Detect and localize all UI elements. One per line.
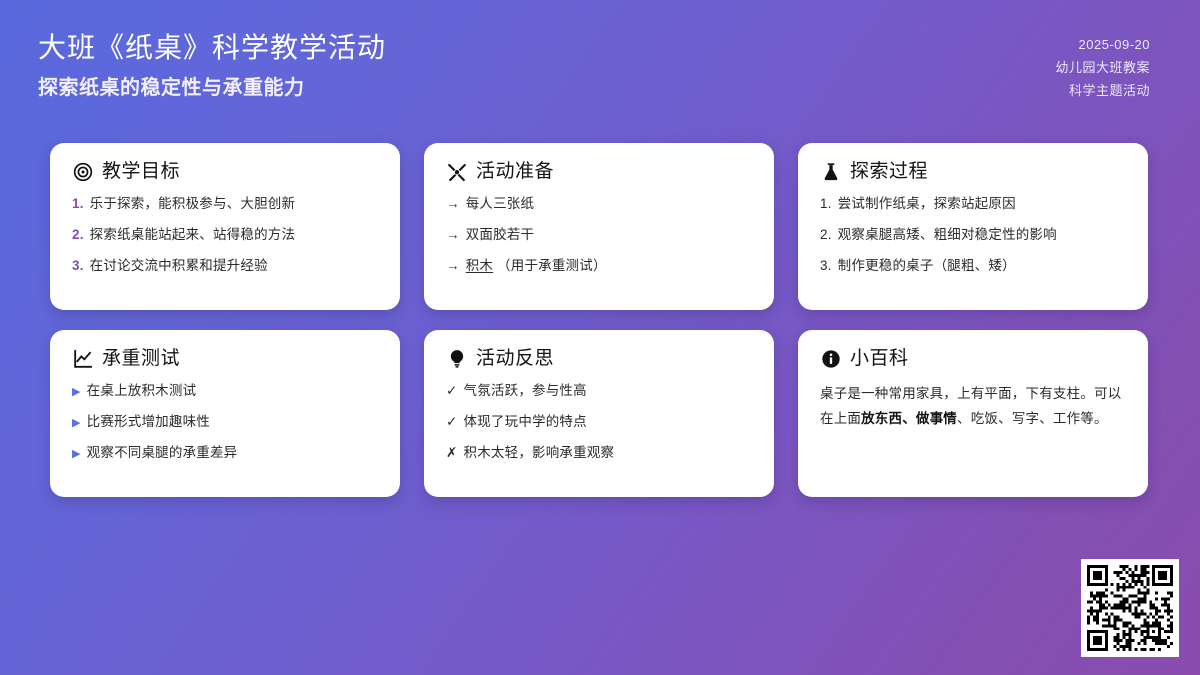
card-target: 教学目标1.乐于探索，能积极参与、大胆创新2.探索纸桌能站起来、站得稳的方法3.… xyxy=(50,143,400,310)
card-header: 教学目标 xyxy=(72,161,380,182)
list-item: →双面胶若干 xyxy=(446,226,754,244)
card-title: 活动反思 xyxy=(476,349,554,368)
list-item-text: 双面胶若干 xyxy=(466,226,754,244)
list-marker: 2. xyxy=(820,226,832,244)
page-title: 大班《纸桌》科学教学活动 xyxy=(38,30,386,65)
list-item: ▶在桌上放积木测试 xyxy=(72,382,380,400)
list-marker: 3. xyxy=(72,257,84,275)
list-item: ▶观察不同桌腿的承重差异 xyxy=(72,444,380,462)
card-grid: 教学目标1.乐于探索，能积极参与、大胆创新2.探索纸桌能站起来、站得稳的方法3.… xyxy=(50,143,1150,497)
paragraph-emphasis: 放东西、做事情 xyxy=(861,411,957,426)
list-item: 3.在讨论交流中积累和提升经验 xyxy=(72,257,380,275)
list-marker: 1. xyxy=(820,195,832,213)
card-header: 探索过程 xyxy=(820,161,1128,182)
card-flask: 探索过程1.尝试制作纸桌，探索站起原因2.观察桌腿高矮、粗细对稳定性的影响3.制… xyxy=(798,143,1148,310)
list-marker: ✓ xyxy=(446,382,458,400)
card-title: 教学目标 xyxy=(102,162,180,181)
slide-root: 大班《纸桌》科学教学活动 探索纸桌的稳定性与承重能力 2025-09-20 幼儿… xyxy=(0,0,1200,675)
list-item-text: 积木 （用于承重测试） xyxy=(466,257,754,275)
card-body: ✓气氛活跃，参与性高✓体现了玩中学的特点✗积木太轻，影响承重观察 xyxy=(446,382,754,463)
list-item: 1.乐于探索，能积极参与、大胆创新 xyxy=(72,195,380,213)
list-marker: ✗ xyxy=(446,444,458,462)
header-left: 大班《纸桌》科学教学活动 探索纸桌的稳定性与承重能力 xyxy=(38,28,386,101)
card-tools: 活动准备→每人三张纸→双面胶若干→积木 （用于承重测试） xyxy=(424,143,774,310)
list-item: ▶比赛形式增加趣味性 xyxy=(72,413,380,431)
card-info: 小百科桌子是一种常用家具，上有平面，下有支柱。可以在上面放东西、做事情、吃饭、写… xyxy=(798,330,1148,497)
card-bulb: 活动反思✓气氛活跃，参与性高✓体现了玩中学的特点✗积木太轻，影响承重观察 xyxy=(424,330,774,497)
meta-theme: 科学主题活动 xyxy=(1055,80,1150,103)
qr-code-image xyxy=(1087,565,1173,651)
list-item-text: 在讨论交流中积累和提升经验 xyxy=(90,257,380,275)
list-item-text: 尝试制作纸桌，探索站起原因 xyxy=(838,195,1128,213)
list-item: →每人三张纸 xyxy=(446,195,754,213)
list-item-text: 积木太轻，影响承重观察 xyxy=(464,444,754,462)
flask-icon xyxy=(820,161,841,182)
bulb-icon xyxy=(446,348,467,369)
list-marker: → xyxy=(446,257,460,275)
list-item-text: 观察不同桌腿的承重差异 xyxy=(87,444,380,462)
list-item: 2.观察桌腿高矮、粗细对稳定性的影响 xyxy=(820,226,1128,244)
tools-icon xyxy=(446,161,467,182)
list-item-text: 在桌上放积木测试 xyxy=(87,382,380,400)
card-body: →每人三张纸→双面胶若干→积木 （用于承重测试） xyxy=(446,195,754,276)
list-item-text: 探索纸桌能站起来、站得稳的方法 xyxy=(90,226,380,244)
list-marker: → xyxy=(446,195,460,213)
underlined-term: 积木 xyxy=(466,258,493,273)
card-title: 活动准备 xyxy=(476,162,554,181)
list-marker: 1. xyxy=(72,195,84,213)
list-item-text: 比赛形式增加趣味性 xyxy=(87,413,380,431)
list-item-text: 观察桌腿高矮、粗细对稳定性的影响 xyxy=(838,226,1128,244)
list-item: ✓体现了玩中学的特点 xyxy=(446,413,754,431)
slide-header: 大班《纸桌》科学教学活动 探索纸桌的稳定性与承重能力 2025-09-20 幼儿… xyxy=(0,0,1200,130)
list-item-text: 乐于探索，能积极参与、大胆创新 xyxy=(90,195,380,213)
list-item-text: 体现了玩中学的特点 xyxy=(464,413,754,431)
list-item: 1.尝试制作纸桌，探索站起原因 xyxy=(820,195,1128,213)
list-marker: → xyxy=(446,226,460,244)
list-marker: ✓ xyxy=(446,413,458,431)
paragraph-part-2: 、吃饭、写字、工作等。 xyxy=(957,411,1108,426)
list-item-text: 气氛活跃，参与性高 xyxy=(464,382,754,400)
card-title: 探索过程 xyxy=(850,162,928,181)
target-icon xyxy=(72,161,93,182)
qr-code[interactable] xyxy=(1081,559,1179,657)
card-body: ▶在桌上放积木测试▶比赛形式增加趣味性▶观察不同桌腿的承重差异 xyxy=(72,382,380,463)
card-header: 承重测试 xyxy=(72,348,380,369)
card-title: 小百科 xyxy=(850,349,909,368)
list-marker: 3. xyxy=(820,257,832,275)
card-header: 活动准备 xyxy=(446,161,754,182)
card-body: 1.乐于探索，能积极参与、大胆创新2.探索纸桌能站起来、站得稳的方法3.在讨论交… xyxy=(72,195,380,276)
list-marker: ▶ xyxy=(72,447,81,462)
list-item-text: 制作更稳的桌子（腿粗、矮） xyxy=(838,257,1128,275)
chart-icon xyxy=(72,348,93,369)
card-body: 1.尝试制作纸桌，探索站起原因2.观察桌腿高矮、粗细对稳定性的影响3.制作更稳的… xyxy=(820,195,1128,276)
list-item: ✗积木太轻，影响承重观察 xyxy=(446,444,754,462)
list-item-note: （用于承重测试） xyxy=(493,258,607,273)
card-title: 承重测试 xyxy=(102,349,180,368)
list-item: ✓气氛活跃，参与性高 xyxy=(446,382,754,400)
card-body: 桌子是一种常用家具，上有平面，下有支柱。可以在上面放东西、做事情、吃饭、写字、工… xyxy=(820,382,1128,432)
list-item: 2.探索纸桌能站起来、站得稳的方法 xyxy=(72,226,380,244)
page-subtitle: 探索纸桌的稳定性与承重能力 xyxy=(38,75,386,101)
card-header: 小百科 xyxy=(820,348,1128,369)
list-marker: 2. xyxy=(72,226,84,244)
header-meta: 2025-09-20 幼儿园大班教案 科学主题活动 xyxy=(1055,28,1150,102)
info-icon xyxy=(820,348,841,369)
card-header: 活动反思 xyxy=(446,348,754,369)
list-item: →积木 （用于承重测试） xyxy=(446,257,754,275)
list-marker: ▶ xyxy=(72,385,81,400)
list-item-text: 每人三张纸 xyxy=(466,195,754,213)
card-paragraph: 桌子是一种常用家具，上有平面，下有支柱。可以在上面放东西、做事情、吃饭、写字、工… xyxy=(820,382,1128,432)
card-chart: 承重测试▶在桌上放积木测试▶比赛形式增加趣味性▶观察不同桌腿的承重差异 xyxy=(50,330,400,497)
meta-date: 2025-09-20 xyxy=(1055,34,1150,57)
list-marker: ▶ xyxy=(72,416,81,431)
meta-category: 幼儿园大班教案 xyxy=(1055,57,1150,80)
list-item: 3.制作更稳的桌子（腿粗、矮） xyxy=(820,257,1128,275)
